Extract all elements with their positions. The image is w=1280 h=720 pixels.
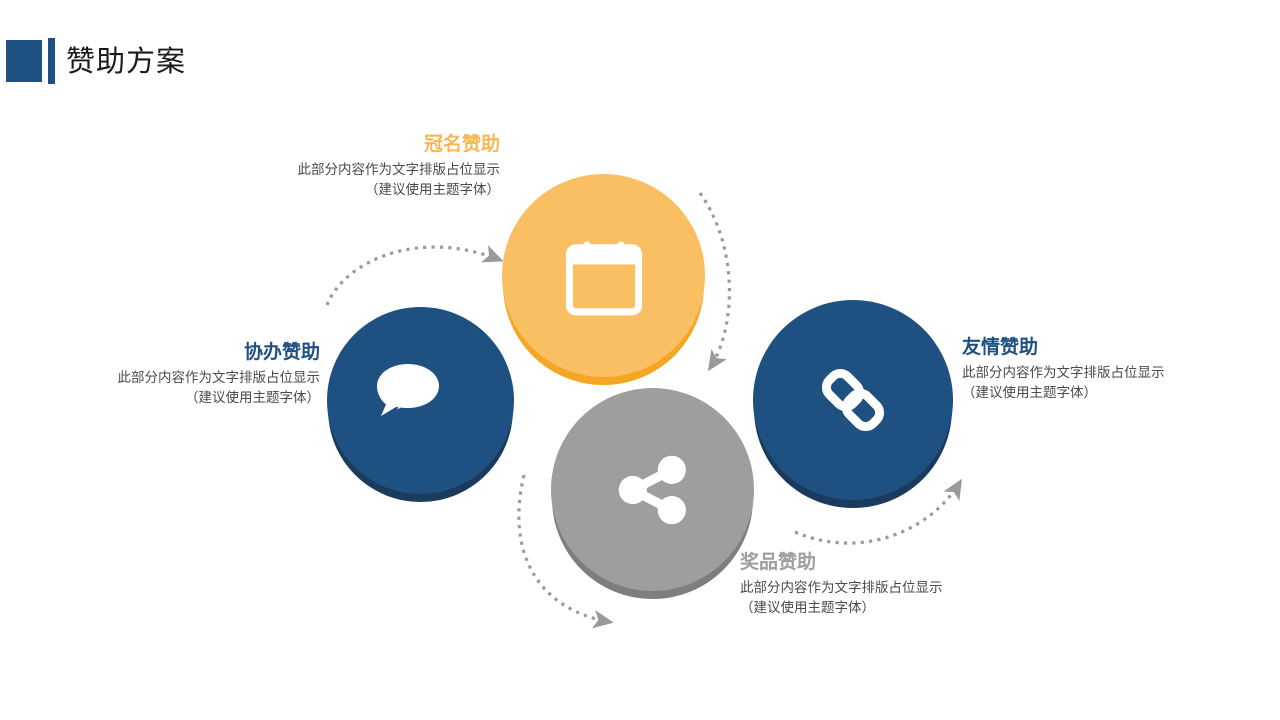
share-nodes-icon xyxy=(610,447,696,533)
sponsorship-diagram: 冠名赞助 此部分内容作为文字排版占位显示 （建议使用主题字体） 协办赞助 此部分… xyxy=(0,100,1280,720)
slide-canvas: 赞助方案 xyxy=(0,0,1280,720)
label-heading-bottom: 奖品赞助 xyxy=(740,550,1060,574)
label-line2-right: （建议使用主题字体） xyxy=(962,383,1280,403)
title-accent-block xyxy=(6,40,42,82)
label-line2-top: （建议使用主题字体） xyxy=(180,180,500,200)
slide-title-row: 赞助方案 xyxy=(0,36,1280,86)
link-chain-icon xyxy=(812,359,894,441)
page-title: 赞助方案 xyxy=(66,38,186,84)
label-heading-right: 友情赞助 xyxy=(962,335,1280,359)
label-heading-top: 冠名赞助 xyxy=(180,132,500,156)
label-line1-top: 此部分内容作为文字排版占位显示 xyxy=(180,160,500,180)
node-circle-bottom[interactable] xyxy=(551,388,754,591)
label-line1-left: 此部分内容作为文字排版占位显示 xyxy=(20,368,320,388)
label-heading-left: 协办赞助 xyxy=(20,340,320,364)
label-group-bottom: 奖品赞助 此部分内容作为文字排版占位显示 （建议使用主题字体） xyxy=(740,550,1060,618)
label-line1-right: 此部分内容作为文字排版占位显示 xyxy=(962,363,1280,383)
label-group-right: 友情赞助 此部分内容作为文字排版占位显示 （建议使用主题字体） xyxy=(962,335,1280,403)
chat-bubbles-icon xyxy=(375,364,467,438)
arrow-left-to-top xyxy=(327,247,500,305)
label-line1-bottom: 此部分内容作为文字排版占位显示 xyxy=(740,578,1060,598)
node-circle-right[interactable] xyxy=(753,300,953,500)
node-circle-left[interactable] xyxy=(327,307,514,494)
calendar-icon xyxy=(563,236,645,316)
label-line2-bottom: （建议使用主题字体） xyxy=(740,598,1060,618)
label-group-left: 协办赞助 此部分内容作为文字排版占位显示 （建议使用主题字体） xyxy=(20,340,320,408)
title-accent-bar xyxy=(48,38,55,84)
label-group-top: 冠名赞助 此部分内容作为文字排版占位显示 （建议使用主题字体） xyxy=(180,132,500,200)
label-line2-left: （建议使用主题字体） xyxy=(20,388,320,408)
node-circle-top[interactable] xyxy=(502,174,705,377)
